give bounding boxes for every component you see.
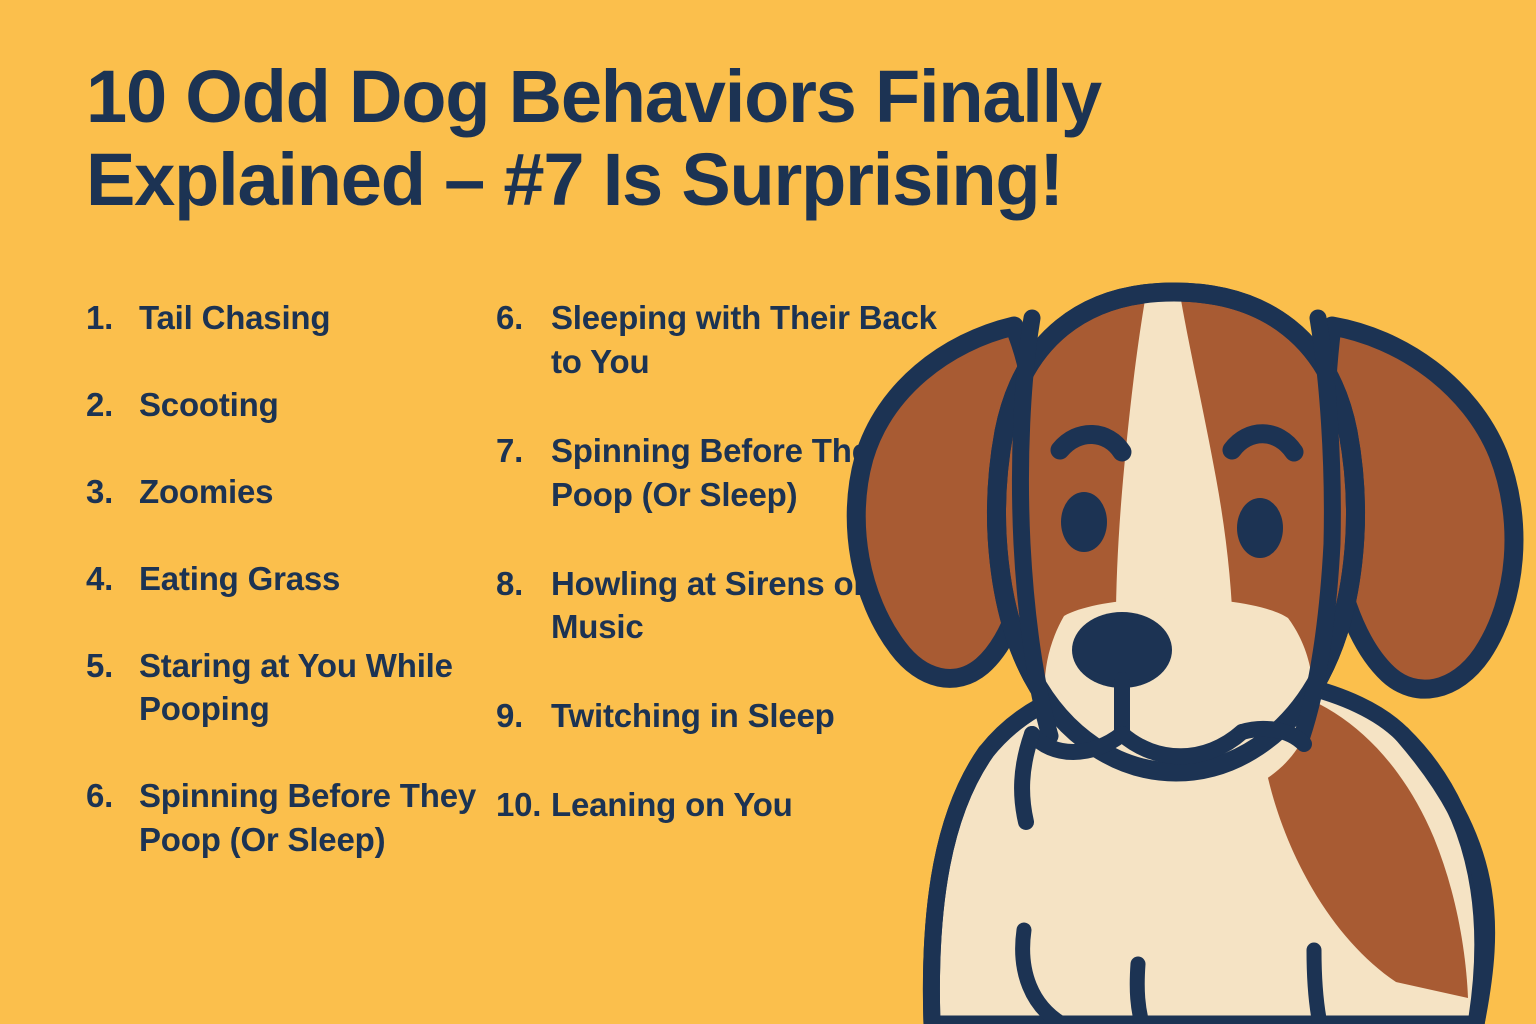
list-item: 4. Eating Grass — [86, 557, 496, 601]
list-item-number: 4. — [86, 557, 139, 601]
list-item-number: 8. — [496, 562, 551, 606]
dog-ear-fold-left — [1020, 318, 1050, 736]
behavior-list: 1. Tail Chasing 2. Scooting 3. Zoomies 4… — [86, 296, 946, 905]
list-item: 9. Twitching in Sleep — [496, 694, 946, 738]
list-item-label: Twitching in Sleep — [551, 694, 946, 738]
list-item-label: Scooting — [139, 383, 496, 427]
list-item-label: Tail Chasing — [139, 296, 496, 340]
list-item-label: Staring at You While Pooping — [139, 644, 496, 732]
dog-mouth-left — [1032, 734, 1122, 752]
list-column-left: 1. Tail Chasing 2. Scooting 3. Zoomies 4… — [86, 296, 496, 905]
dog-nose — [1072, 612, 1172, 688]
dog-leg-line-left — [1023, 930, 1062, 1024]
list-item-number: 6. — [496, 296, 551, 340]
list-item: 8. Howling at Sirens or Music — [496, 562, 946, 650]
page-title: 10 Odd Dog Behaviors Finally Explained –… — [86, 56, 1326, 222]
list-item: 1. Tail Chasing — [86, 296, 496, 340]
dog-ear-right — [1325, 326, 1514, 689]
list-item: 2. Scooting — [86, 383, 496, 427]
dog-jowl-left — [1022, 734, 1032, 822]
dog-blaze — [1116, 293, 1233, 783]
list-item-label: Sleeping with Their Back to You — [551, 296, 946, 384]
dog-muzzle — [1045, 598, 1313, 804]
list-item: 5. Staring at You While Pooping — [86, 644, 496, 732]
dog-eye-left — [1061, 492, 1107, 552]
list-item-label: Spinning Before They Poop (Or Sleep) — [139, 774, 496, 862]
list-item: 10. Leaning on You — [496, 783, 946, 827]
dog-eyebrow-left — [1060, 434, 1122, 452]
dog-eye-right — [1237, 498, 1283, 558]
list-item-label: Howling at Sirens or Music — [551, 562, 946, 650]
list-item-number: 1. — [86, 296, 139, 340]
dog-jowl-right — [1242, 729, 1304, 744]
dog-shoulder-patch — [1262, 686, 1468, 998]
list-item: 3. Zoomies — [86, 470, 496, 514]
dog-leg-line-right — [1314, 950, 1320, 1024]
list-item-label: Leaning on You — [551, 783, 946, 827]
dog-ear-fold-right — [1302, 318, 1332, 736]
list-item-number: 3. — [86, 470, 139, 514]
dog-eyebrow-right — [1232, 434, 1294, 452]
dog-body-outline — [931, 734, 1486, 1024]
list-item: 6. Spinning Before They Poop (Or Sleep) — [86, 774, 496, 862]
list-item-label: Spinning Before They Poop (Or Sleep) — [551, 429, 946, 517]
list-column-right: 6. Sleeping with Their Back to You 7. Sp… — [496, 296, 946, 905]
dog-head — [997, 292, 1356, 772]
dog-head-outline — [997, 292, 1356, 772]
dog-body — [931, 673, 1482, 1024]
list-item: 7. Spinning Before They Poop (Or Sleep) — [496, 429, 946, 517]
list-item-number: 6. — [86, 774, 139, 818]
list-item-number: 9. — [496, 694, 551, 738]
list-item-number: 2. — [86, 383, 139, 427]
poster-canvas: 10 Odd Dog Behaviors Finally Explained –… — [0, 0, 1536, 1024]
list-item-number: 10. — [496, 783, 551, 827]
list-item-number: 5. — [86, 644, 139, 688]
dog-mouth-right — [1122, 732, 1242, 756]
list-item: 6. Sleeping with Their Back to You — [496, 296, 946, 384]
list-item-label: Eating Grass — [139, 557, 496, 601]
dog-leg-line-center — [1137, 964, 1142, 1024]
list-item-label: Zoomies — [139, 470, 496, 514]
list-item-number: 7. — [496, 429, 551, 473]
